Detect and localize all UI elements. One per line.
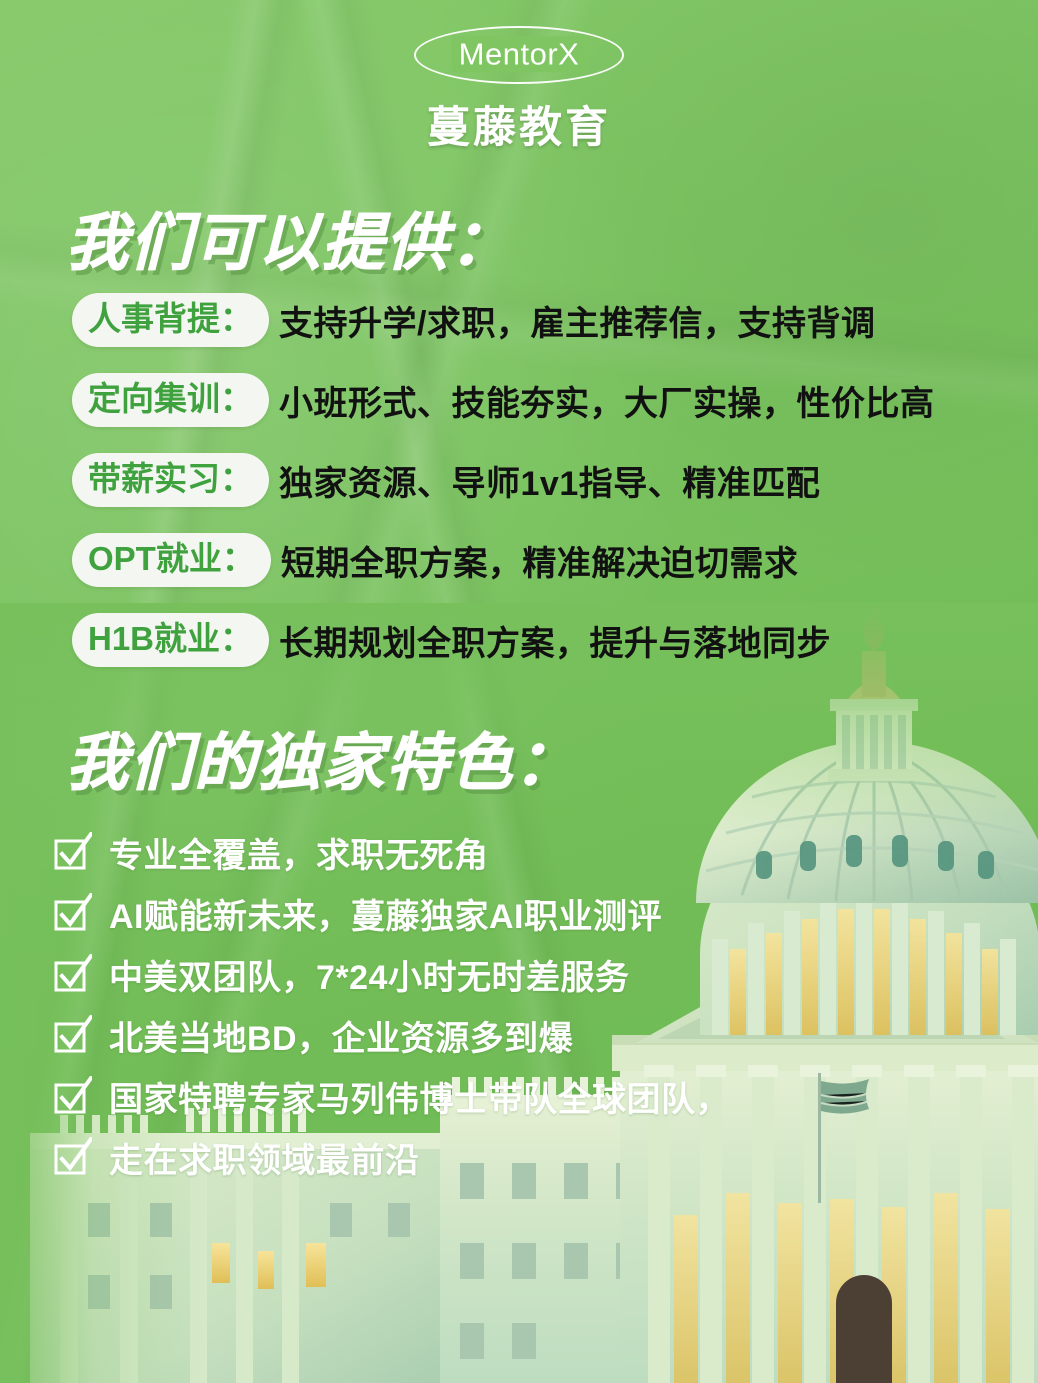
service-description: 长期规划全职方案，提升与落地同步: [279, 616, 831, 665]
service-tag: 定向集训：: [72, 373, 269, 427]
brand-logo: MentorX 蔓藤教育: [0, 26, 1038, 155]
list-item: AI赋能新未来，蔓藤独家AI职业测评: [52, 889, 952, 937]
list-item: 国家特聘专家马列伟博士带队全球团队，: [52, 1072, 952, 1120]
feature-label: 专业全覆盖，求职无死角: [109, 828, 489, 877]
service-tag: 人事背提：: [72, 293, 269, 347]
service-row: 带薪实习： 独家资源、导师1v1指导、精准匹配: [72, 452, 972, 508]
checkmark-icon: [52, 893, 92, 933]
service-row: 人事背提： 支持升学/求职，雇主推荐信，支持背调: [72, 292, 972, 348]
service-row: 定向集训： 小班形式、技能夯实，大厂实操，性价比高: [72, 372, 972, 428]
checkmark-icon: [52, 1076, 92, 1116]
services-list: 人事背提： 支持升学/求职，雇主推荐信，支持背调 定向集训： 小班形式、技能夯实…: [72, 292, 972, 692]
service-description: 小班形式、技能夯实，大厂实操，性价比高: [279, 376, 935, 425]
service-row: H1B就业： 长期规划全职方案，提升与落地同步: [72, 612, 972, 668]
logo-wordmark: MentorX: [452, 36, 587, 72]
feature-label: 国家特聘专家马列伟博士带队全球团队，: [109, 1072, 730, 1121]
service-row: OPT就业： 短期全职方案，精准解决迫切需求: [72, 532, 972, 588]
feature-label: 北美当地BD，企业资源多到爆: [109, 1011, 573, 1060]
service-tag: OPT就业：: [72, 533, 271, 587]
service-description: 支持升学/求职，雇主推荐信，支持背调: [279, 296, 875, 345]
checkmark-icon: [52, 1015, 92, 1055]
feature-label: 中美双团队，7*24小时无时差服务: [109, 950, 629, 999]
list-item: 北美当地BD，企业资源多到爆: [52, 1011, 952, 1059]
page-title-offer: 我们可以提供：: [66, 192, 514, 282]
checkmark-icon: [52, 832, 92, 872]
logo-chinese-name: 蔓藤教育: [0, 93, 1038, 155]
features-list: 专业全覆盖，求职无死角 AI赋能新未来，蔓藤独家AI职业测评 中美双团队，7*2…: [52, 828, 952, 1194]
logo-ellipse-icon: MentorX: [414, 26, 624, 84]
service-tag: 带薪实习：: [72, 453, 269, 507]
promo-poster: MentorX 蔓藤教育 我们可以提供： 人事背提： 支持升学/求职，雇主推荐信…: [0, 0, 1038, 1383]
feature-label: 走在求职领域最前沿: [109, 1133, 420, 1182]
checkmark-icon: [52, 954, 92, 994]
service-tag: H1B就业：: [72, 613, 269, 667]
service-description: 短期全职方案，精准解决迫切需求: [281, 536, 799, 585]
list-item: 中美双团队，7*24小时无时差服务: [52, 950, 952, 998]
service-description: 独家资源、导师1v1指导、精准匹配: [279, 456, 820, 505]
feature-label: AI赋能新未来，蔓藤独家AI职业测评: [109, 889, 662, 938]
page-title-features: 我们的独家特色：: [66, 712, 578, 802]
list-item: 专业全覆盖，求职无死角: [52, 828, 952, 876]
checkmark-icon: [52, 1137, 92, 1177]
list-item: 走在求职领域最前沿: [52, 1133, 952, 1181]
